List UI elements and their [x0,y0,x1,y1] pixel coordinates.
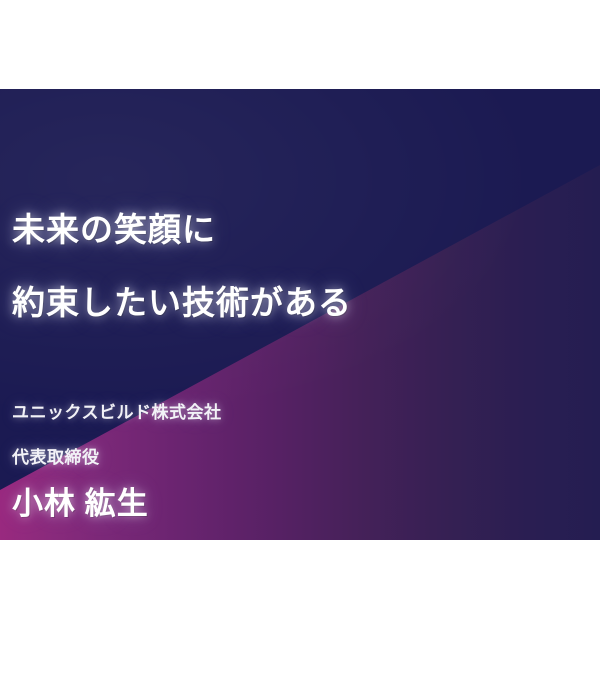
hero-banner: 未来の笑顔に 約束したい技術がある ユニックスビルド株式会社 代表取締役 小林 … [0,89,600,540]
headline-line-2: 約束したい技術がある [12,288,352,321]
headline-line-1: 未来の笑顔に [12,215,216,248]
company-name: ユニックスビルド株式会社 [12,404,222,421]
banner-text-layer: 未来の笑顔に 約束したい技術がある ユニックスビルド株式会社 代表取締役 小林 … [0,89,600,540]
person-name: 小林 紘生 [12,488,149,519]
slide-page: 未来の笑顔に 約束したい技術がある ユニックスビルド株式会社 代表取締役 小林 … [0,0,600,693]
person-role: 代表取締役 [12,449,100,466]
